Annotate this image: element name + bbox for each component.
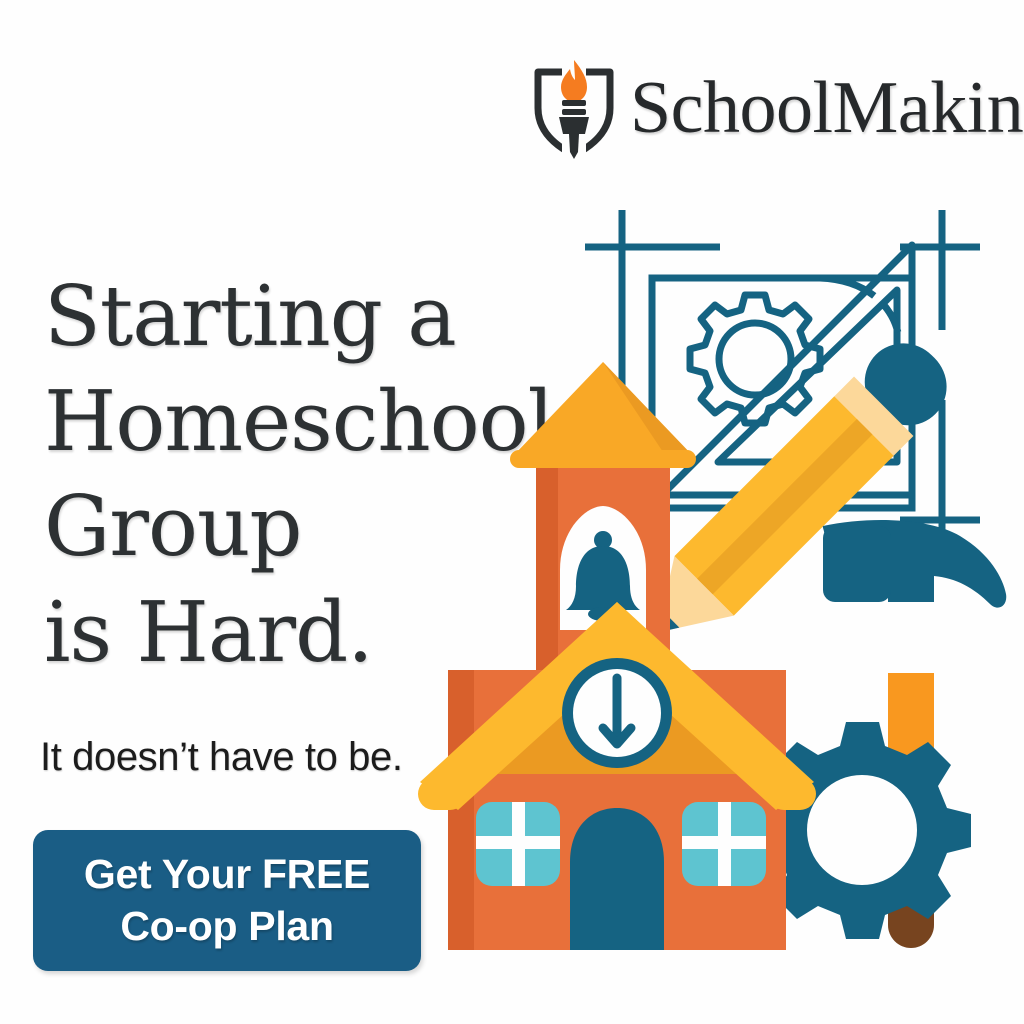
schoolhouse-icon [418, 362, 816, 950]
subheadline: It doesn’t have to be. [40, 735, 403, 780]
shield-torch-icon [532, 56, 616, 160]
brand-logo[interactable]: SchoolMaking [532, 56, 1024, 160]
blueprint-arc [820, 278, 900, 350]
window-icon-left [476, 802, 560, 886]
door-icon [570, 808, 664, 950]
cta-label-line-1: Get Your FREE [84, 849, 370, 900]
get-free-coop-plan-button[interactable]: Get Your FREE Co-op Plan [33, 830, 421, 971]
cta-label-line-2: Co-op Plan [120, 901, 333, 952]
brand-name: SchoolMaking [630, 71, 1024, 145]
ad-creative-canvas: SchoolMaking Starting a Homeschool Group… [0, 0, 1024, 1024]
window-icon-right [682, 802, 766, 886]
clock-icon [562, 658, 672, 768]
schoolhouse-blueprint-tools-illustration [400, 150, 1024, 950]
gear-solid-icon [754, 722, 971, 939]
